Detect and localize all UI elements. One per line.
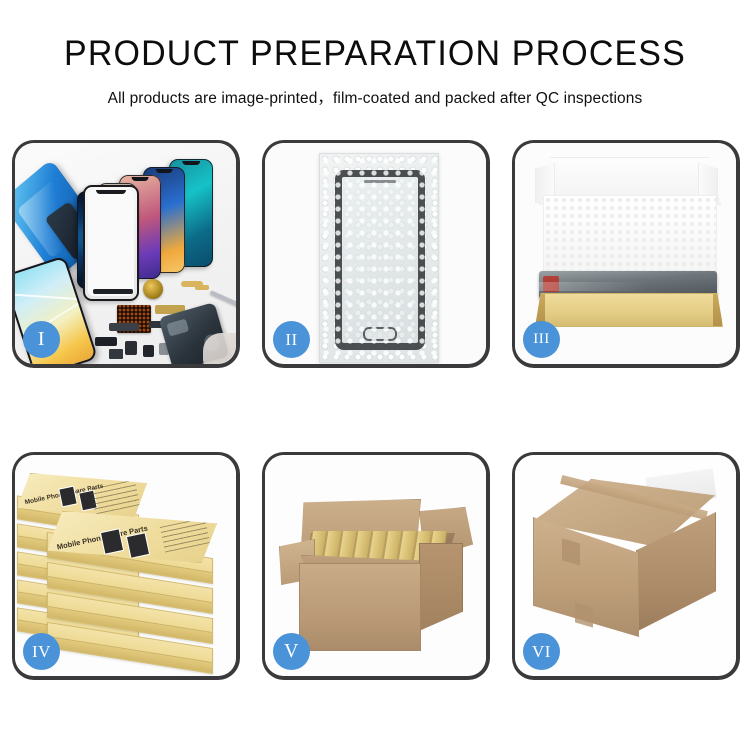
camera-module-icon [125,341,137,355]
white-foam-padding-icon [543,195,717,281]
box-print-textlines-2-icon [160,518,210,553]
page-header: PRODUCT PREPARATION PROCESS All products… [0,0,750,108]
process-step-panel-5[interactable]: V [262,452,490,680]
earpiece-mesh-icon [93,289,133,294]
flex-cable-d-icon [109,323,139,331]
button-flex-icon [109,349,123,359]
sim-tray-icon [143,345,154,357]
process-step-panel-1[interactable]: I [12,140,240,368]
step-badge-4: IV [23,633,60,670]
bubble-wrap-sheet-icon [319,153,439,363]
process-step-panel-6[interactable]: VI [512,452,740,680]
vibrator-motor-icon [95,337,117,346]
process-step-panel-3[interactable]: III [512,140,740,368]
page-subtitle: All products are image-printed，film-coat… [0,86,750,108]
process-step-panel-4[interactable]: Mobile Phone Spare Parts Mobile Phone Sp… [12,452,240,680]
wrapped-screen-icon [335,170,425,350]
process-step-grid: I II III [0,140,750,680]
hand-icon [203,333,236,364]
process-step-panel-2[interactable]: II [262,140,490,368]
page-title: PRODUCT PREPARATION PROCESS [11,34,739,74]
flex-cable-b-icon [195,285,209,290]
step-badge-1: I [23,321,60,358]
step-badge-2: II [273,321,310,358]
box-print-screen-d-icon [126,532,150,559]
step-badge-3: III [523,321,560,358]
spare-parts-group [91,279,236,364]
phone-fan-group [77,155,236,295]
kraft-box-tray-icon [535,293,723,327]
carton-front-face-icon [299,563,421,651]
speaker-coil-icon [143,279,163,299]
step-badge-5: V [273,633,310,670]
step-badge-6: VI [523,633,560,670]
